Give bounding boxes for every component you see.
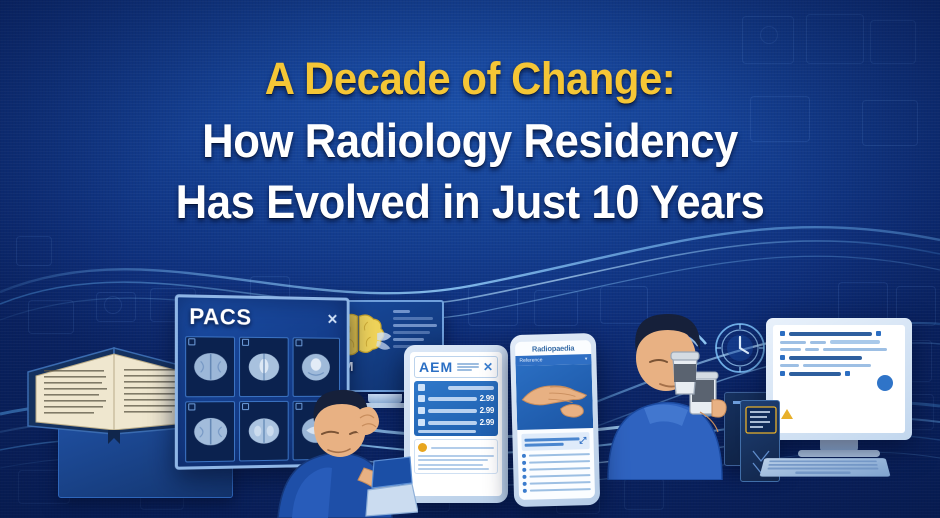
monitor-base	[798, 450, 880, 457]
list-item[interactable]	[523, 487, 591, 493]
title-line-3: Has Evolved in Just 10 Years	[33, 178, 907, 225]
header-placeholder-lines	[457, 363, 479, 371]
list-item[interactable]: 2.99	[418, 418, 494, 427]
list-item[interactable]	[523, 480, 591, 486]
row-icon	[418, 407, 425, 414]
desktop-monitor[interactable]	[766, 318, 912, 440]
row-value: 2.99	[480, 406, 494, 415]
tablet-app-title: AEM	[419, 359, 453, 375]
report-row	[780, 331, 898, 336]
tablet-device[interactable]: AEM ✕ 2.99	[404, 345, 508, 503]
row-icon	[418, 419, 425, 426]
section-label: Reference	[519, 357, 542, 364]
hand-xray-image	[516, 364, 594, 430]
phone-article-list: ⤢	[517, 428, 595, 500]
tired-resident-figure	[268, 372, 418, 518]
list-item[interactable]	[522, 459, 590, 465]
list-item[interactable]	[522, 452, 590, 458]
report-row	[780, 340, 898, 344]
list-item[interactable]	[522, 466, 590, 472]
report-row	[780, 355, 898, 360]
list-row-header	[418, 384, 494, 391]
row-value: 2.99	[480, 418, 494, 427]
list-item[interactable]	[522, 473, 590, 479]
brain-scan-thumb[interactable]	[185, 336, 235, 397]
title-line-1: A Decade of Change:	[33, 56, 907, 101]
tablet-list-card: 2.99 2.99 2.99	[414, 381, 498, 436]
close-icon[interactable]: ✕	[483, 360, 493, 374]
coffee-cup-icon	[668, 348, 702, 398]
list-row-footer	[418, 430, 494, 433]
action-button[interactable]	[877, 375, 893, 391]
row-value: 2.99	[480, 394, 494, 403]
title-line-2: How Radiology Residency	[33, 117, 907, 164]
poster-canvas: PACS ✕	[0, 0, 940, 518]
report-row	[780, 364, 898, 367]
article-title-block[interactable]: ⤢	[521, 432, 589, 451]
close-icon[interactable]: ✕	[327, 311, 338, 328]
list-item[interactable]: 2.99	[418, 406, 494, 415]
tablet-header: AEM ✕	[414, 356, 498, 378]
pacs-title: PACS	[189, 304, 251, 331]
expand-icon[interactable]: ⤢	[579, 435, 586, 446]
tablet-footer-card	[414, 439, 498, 474]
phone-screen: Radiopaedia Reference ▾	[515, 340, 595, 500]
smartphone-device[interactable]: Radiopaedia Reference ▾	[510, 333, 600, 507]
tablet-screen: AEM ✕ 2.99	[410, 352, 502, 496]
brain-scan-thumb[interactable]	[185, 401, 235, 462]
row-icon	[418, 384, 425, 391]
report-row	[780, 348, 898, 351]
report-screen	[773, 325, 905, 433]
keyboard[interactable]	[759, 458, 890, 476]
list-item[interactable]: 2.99	[418, 394, 494, 403]
row-icon	[418, 395, 425, 402]
award-badge-icon	[418, 443, 427, 452]
warning-icon	[781, 409, 793, 419]
pacs-header: PACS ✕	[178, 297, 347, 334]
chevron-down-icon[interactable]: ▾	[585, 356, 588, 362]
poster-title: A Decade of Change: How Radiology Reside…	[0, 56, 940, 225]
